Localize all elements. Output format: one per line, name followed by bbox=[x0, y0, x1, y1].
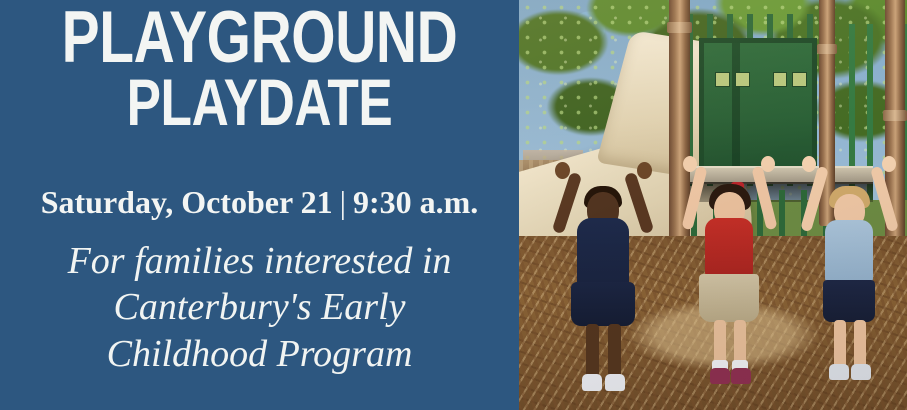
playground-playdate-banner: PLAYGROUND PLAYDATE Saturday, October 21… bbox=[0, 0, 907, 410]
child-left-dress-skirt bbox=[571, 282, 635, 326]
event-date-time: Saturday, October 21|9:30 a.m. bbox=[0, 185, 519, 220]
event-time: 9:30 a.m. bbox=[353, 184, 478, 220]
child-center-arm-raised bbox=[681, 166, 707, 231]
panel-window bbox=[773, 72, 788, 87]
child-center-red-shirt bbox=[705, 218, 753, 278]
post-band bbox=[883, 110, 907, 121]
headline-line-1: PLAYGROUND bbox=[57, 4, 462, 72]
subheadline-line-1: For families interested in bbox=[0, 238, 519, 284]
subheadline-line-3: Childhood Program bbox=[0, 331, 519, 377]
child-left-shoe bbox=[605, 374, 625, 391]
child-left-hand bbox=[637, 162, 652, 179]
panel-windows bbox=[715, 72, 807, 106]
headline-line-2: PLAYDATE bbox=[57, 72, 462, 133]
child-right-navy-shorts bbox=[823, 280, 875, 322]
child-left-leg bbox=[586, 324, 599, 378]
child-center-shoe bbox=[731, 368, 751, 384]
headline: PLAYGROUND PLAYDATE bbox=[57, 4, 462, 133]
post-band bbox=[817, 44, 837, 54]
panel-window bbox=[715, 72, 730, 87]
child-right-shoe bbox=[851, 364, 871, 380]
event-date: Saturday, October 21 bbox=[41, 184, 333, 220]
child-right-blue-shirt bbox=[825, 220, 873, 284]
child-center-shoe bbox=[710, 368, 730, 384]
child-center-hand bbox=[761, 156, 775, 172]
date-time-separator: | bbox=[333, 185, 353, 220]
child-right-shoe bbox=[829, 364, 849, 380]
child-right-hand bbox=[802, 156, 816, 172]
child-center bbox=[681, 176, 777, 406]
child-right-leg bbox=[854, 320, 866, 368]
child-right bbox=[801, 178, 897, 404]
child-center-hand bbox=[683, 156, 697, 172]
child-left-hand bbox=[555, 162, 570, 179]
panel-window bbox=[735, 72, 750, 87]
subheadline: For families interested in Canterbury's … bbox=[0, 238, 519, 377]
child-left-leg bbox=[608, 324, 621, 378]
child-center-arm-raised bbox=[751, 166, 777, 231]
child-right-hand bbox=[882, 156, 896, 172]
child-right-leg bbox=[834, 320, 846, 368]
child-center-khaki-skirt bbox=[699, 274, 759, 322]
child-left-shoe bbox=[582, 374, 602, 391]
post-band bbox=[667, 22, 692, 33]
subheadline-line-2: Canterbury's Early bbox=[0, 284, 519, 330]
child-left bbox=[555, 178, 651, 410]
left-text-panel: PLAYGROUND PLAYDATE Saturday, October 21… bbox=[0, 0, 519, 410]
panel-window bbox=[792, 72, 807, 87]
playground-photo bbox=[519, 0, 907, 410]
child-left-arm-raised bbox=[624, 172, 655, 235]
